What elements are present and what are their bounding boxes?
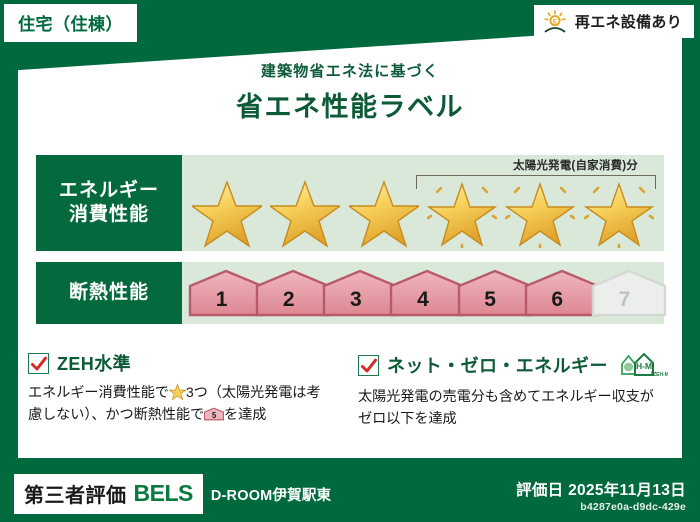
renewable-badge-label: 再エネ設備あり [575,11,682,32]
bels-prefix: 第三者評価 [24,479,127,508]
inline-star-icon [169,383,186,400]
grade-number: 1 [188,288,255,312]
grade-number: 3 [322,288,389,312]
criteria-text-part3: を達成 [224,407,266,423]
insulation-performance-value: 1 2 3 4 [182,262,664,324]
grade-badge: 3 [322,269,389,317]
evaluation-date-value: 2025年11月13日 [568,482,686,499]
grade-badge: 5 [457,269,524,317]
insulation-performance-row: 断熱性能 1 [36,262,664,324]
grade-badge: 4 [389,269,456,317]
energy-key-line2: 消費性能 [69,203,149,227]
grade-badge: 2 [255,269,322,317]
insulation-grade-group: 1 2 3 4 [182,262,664,324]
zeh-logo-text: H-M [636,361,652,371]
star-icon [349,176,419,248]
criteria-zeh-standard: ZEH水準 エネルギー消費性能で3つ（太陽光発電は考慮しない）、かつ断熱性能で5… [28,350,328,426]
star-icon [192,176,262,248]
energy-key-line1: エネルギー [59,179,159,203]
inline-grade-icon: 5 [204,406,224,422]
criteria-header: ネット・ゼロ・エネルギー H-M 「ZEH-M」 [358,350,658,380]
solar-share-bracket-label: 太陽光発電(自家消費)分 [509,157,642,173]
energy-performance-value: 太陽光発電(自家消費)分 [182,155,664,251]
criteria-header: ZEH水準 [28,350,328,376]
bels-certification-box: 第三者評価 BELS [14,474,203,514]
heading-block: 建築物省エネ法に基づく 省エネ性能ラベル [0,60,700,124]
insulation-performance-label-key: 断熱性能 [36,262,182,324]
criteria-text-part1: エネルギー消費性能で [28,385,169,401]
evaluation-date: 評価日 2025年11月13日 [516,478,686,500]
zeh-m-logo-icon: H-M 「ZEH-M」 [618,350,668,380]
grade-number: 2 [255,288,322,312]
energy-performance-label-key: エネルギー 消費性能 [36,155,182,251]
criteria-description: 太陽光発電の売電分も含めてエネルギー収支がゼロ以下を達成 [358,386,658,430]
evaluation-id: b4287e0a-d9dc-429e [516,501,686,513]
bels-word: BELS [134,480,193,507]
footer-right: 評価日 2025年11月13日 b4287e0a-d9dc-429e [516,478,686,513]
energy-performance-label: 住宅（住棟） E 再エネ設備あり 建築物省エネ法に基づく 省エネ性能ラベル [0,0,700,522]
solar-share-bracket [416,175,656,189]
heading-subtitle: 建築物省エネ法に基づく [0,60,700,81]
sun-solar-icon: E [542,10,568,34]
criteria-description: エネルギー消費性能で3つ（太陽光発電は考慮しない）、かつ断熱性能で5を達成 [28,382,328,426]
zeh-logo-caption: 「ZEH-M」 [648,371,668,378]
check-icon [358,355,379,376]
grade-badge-inactive: 7 [591,269,658,317]
svg-text:5: 5 [212,411,217,420]
criteria-title: ネット・ゼロ・エネルギー [387,352,608,378]
grade-badge: 6 [524,269,591,317]
footer-left: 第三者評価 BELS D-ROOM伊賀駅東 [14,474,331,514]
renewable-energy-badge: E 再エネ設備あり [534,5,694,38]
criteria-title: ZEH水準 [57,350,131,376]
grade-number: 5 [457,288,524,312]
criteria-net-zero-energy: ネット・ゼロ・エネルギー H-M 「ZEH-M」 太陽光発電の売電分も含めてエネ… [358,350,658,430]
project-name: D-ROOM伊賀駅東 [211,484,331,505]
grade-number: 6 [524,288,591,312]
grade-badge: 1 [188,269,255,317]
check-icon [28,353,49,374]
document-type-tag: 住宅（住棟） [4,4,137,42]
grade-number: 4 [389,288,456,312]
evaluation-date-label: 評価日 [516,482,563,499]
energy-performance-row: エネルギー 消費性能 太陽光発電(自家消費)分 [36,155,664,251]
star-icon [270,176,340,248]
svg-text:E: E [553,18,558,25]
page-title: 省エネ性能ラベル [0,85,700,124]
grade-number: 7 [591,288,658,312]
